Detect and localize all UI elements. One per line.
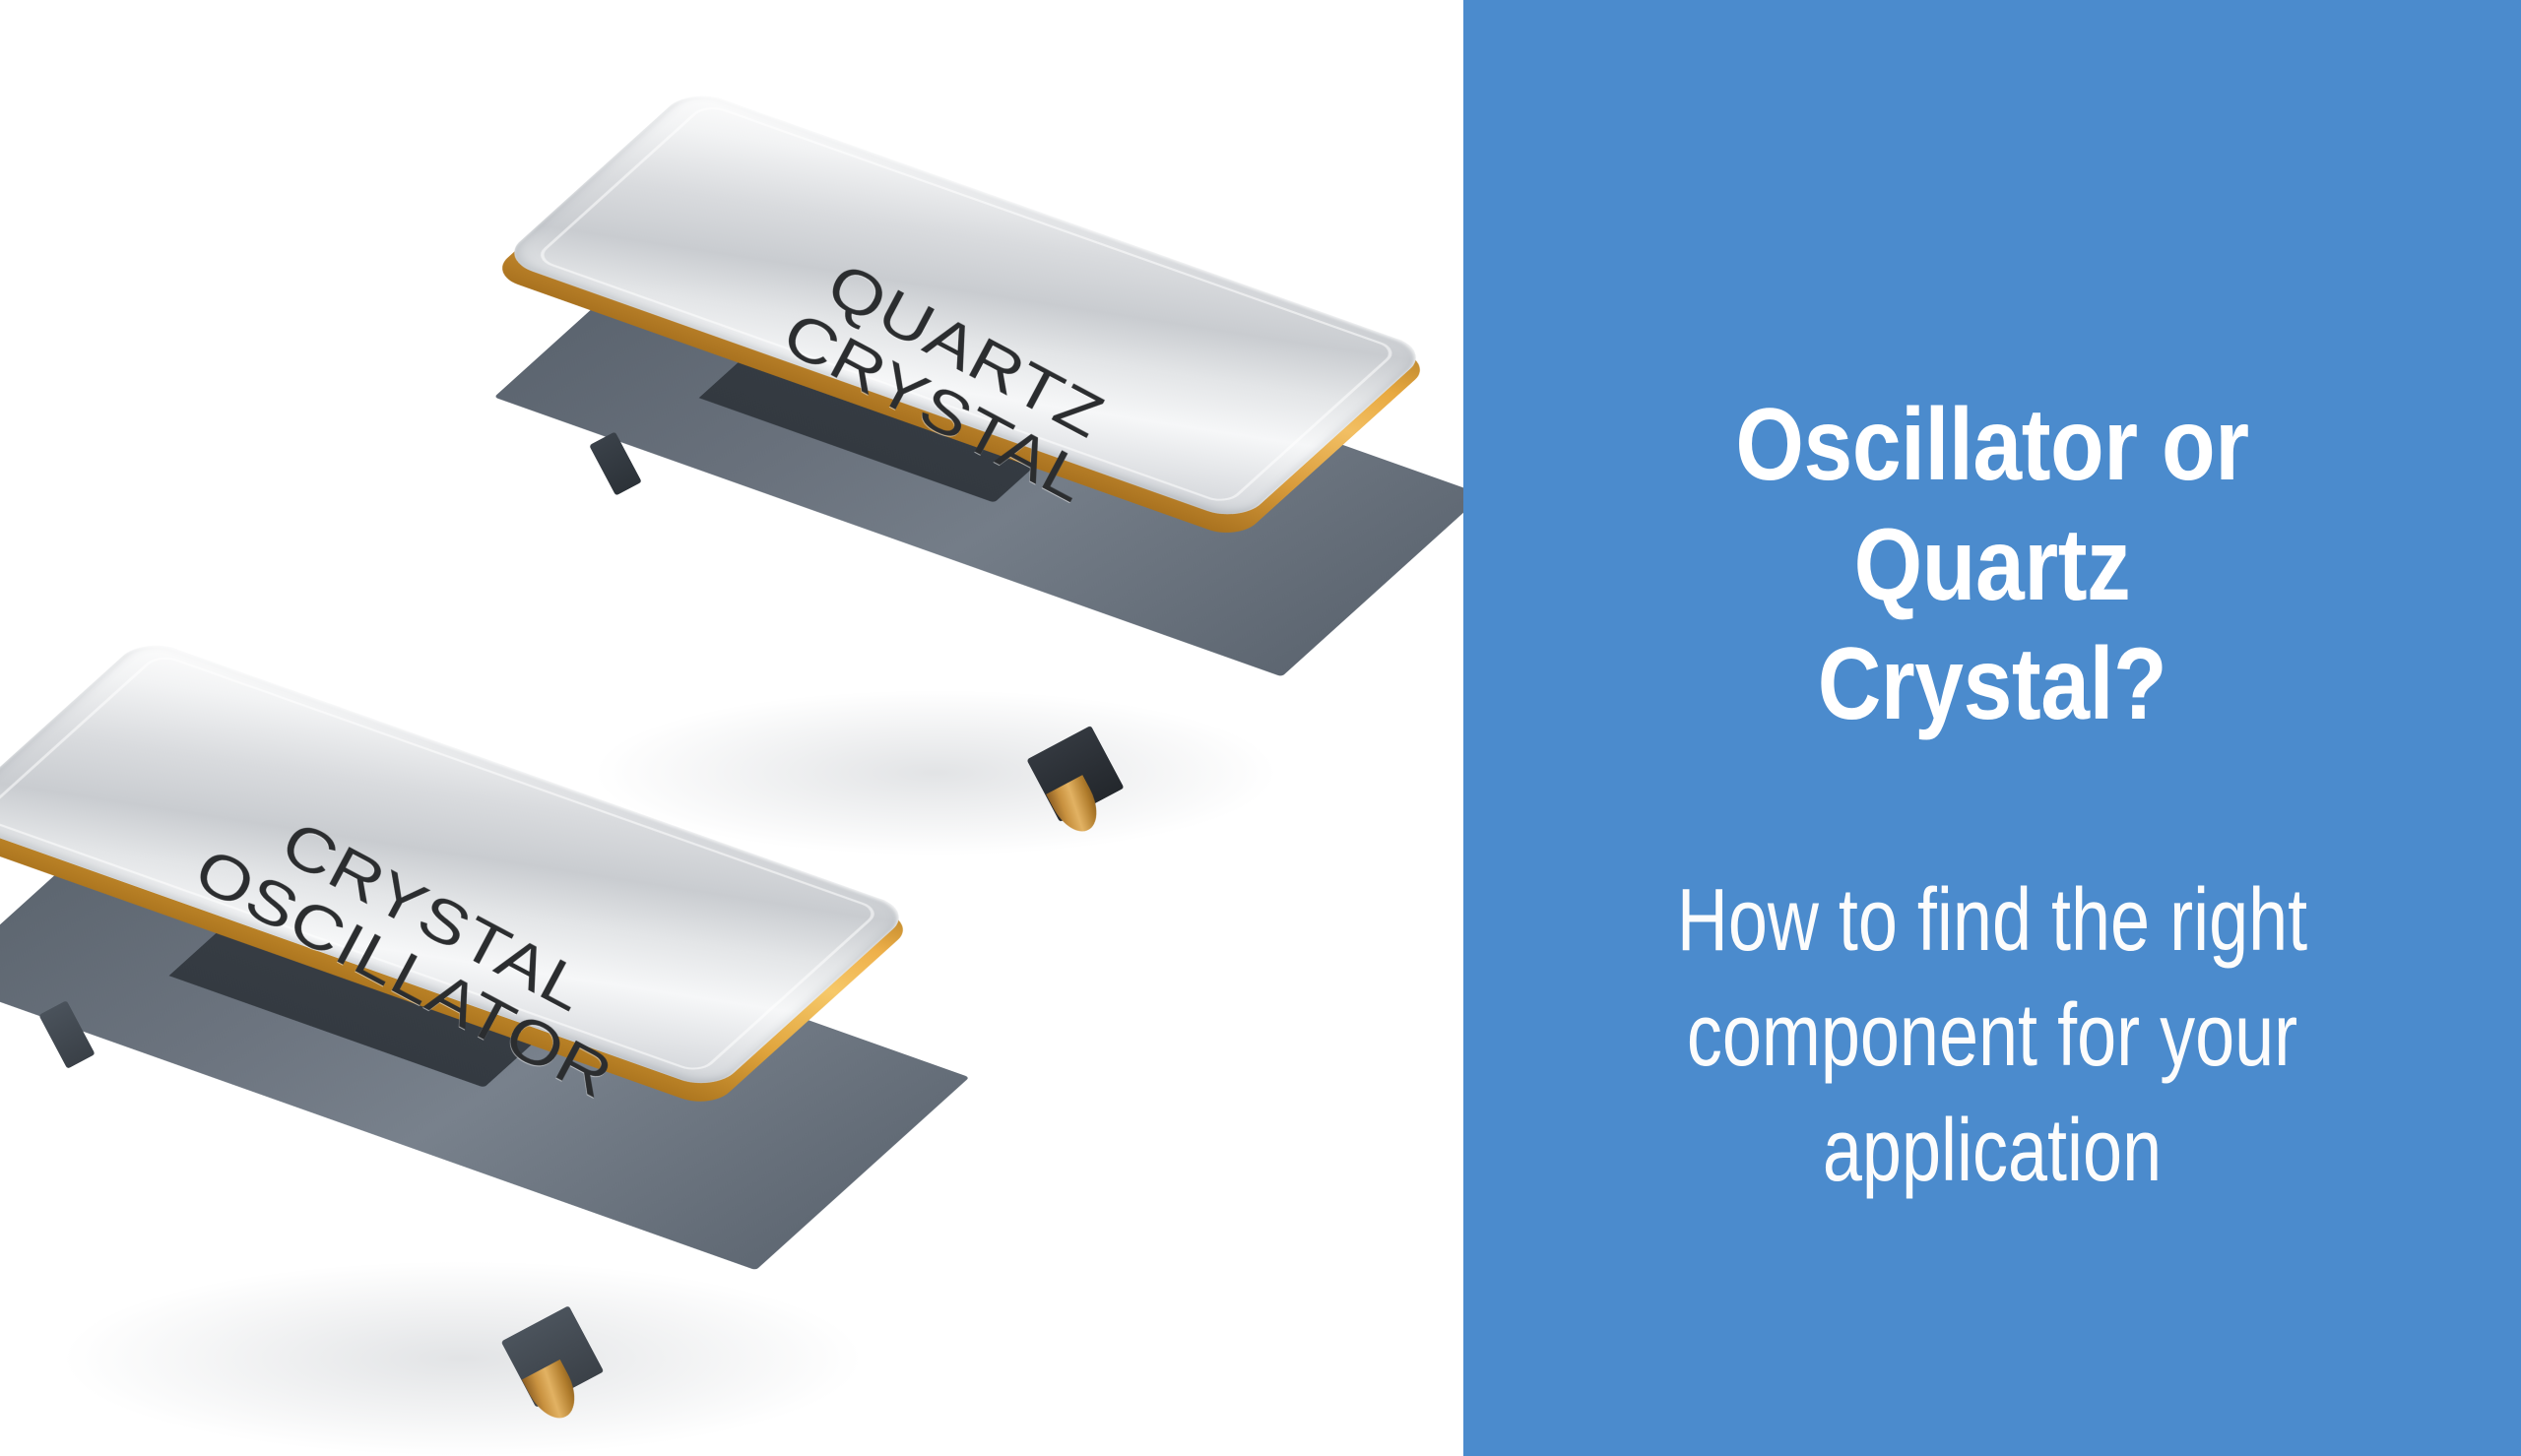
component-crystal-oscillator: CRYSTAL OSCILLATOR: [39, 709, 945, 1456]
panel-headline: Oscillator or Quartz Crystal?: [1628, 386, 2357, 745]
text-panel: Oscillator or Quartz Crystal? How to fin…: [1463, 0, 2521, 1456]
panel-subheadline: How to find the right component for your…: [1646, 863, 2339, 1209]
product-photo: QUARTZ CRYSTAL CRYSTAL OSCILLATOR: [0, 0, 1463, 1456]
slide-canvas: QUARTZ CRYSTAL CRYSTAL OSCILLATOR Oscill…: [0, 0, 2521, 1456]
